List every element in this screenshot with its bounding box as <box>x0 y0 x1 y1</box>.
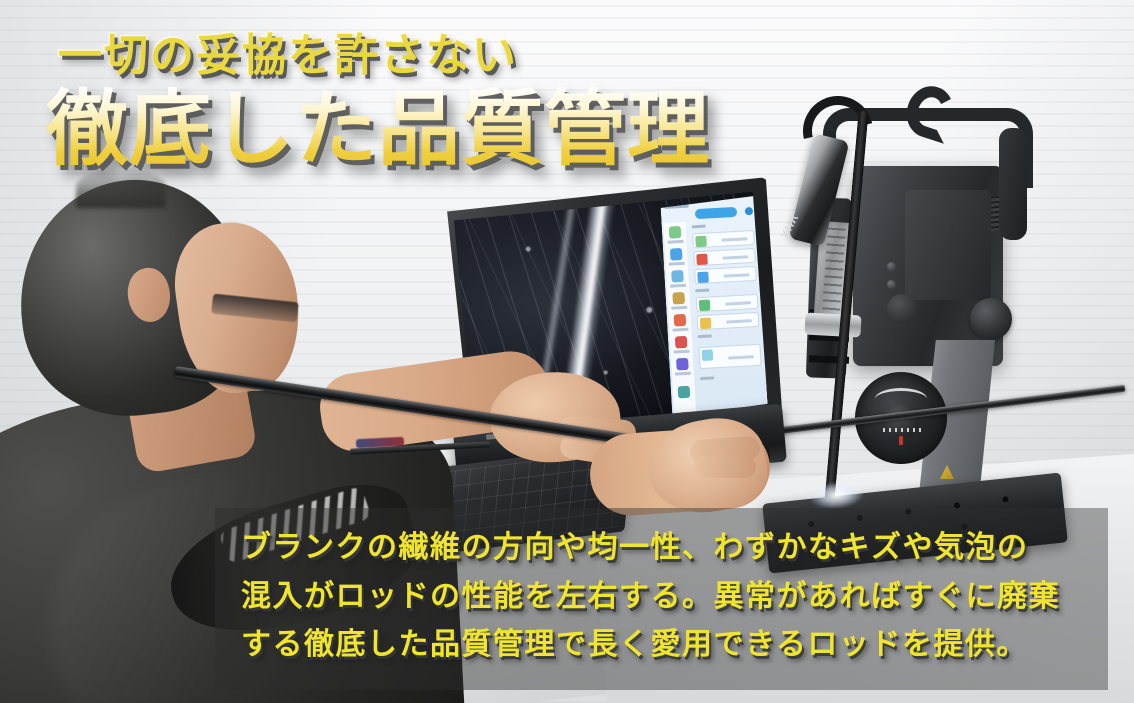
focus-knob-coarse <box>970 298 1012 340</box>
banner-image: VHX <box>0 0 1134 703</box>
row-text <box>728 355 754 359</box>
sidebar-label-2 <box>669 262 685 266</box>
row-text <box>726 319 752 323</box>
list-item[interactable] <box>697 312 760 330</box>
sidebar-label-4 <box>671 306 687 310</box>
inspection-software-panel[interactable] <box>660 196 769 429</box>
digital-microscope: VHX <box>795 90 1095 490</box>
list-item[interactable] <box>696 294 759 312</box>
surface-speck <box>603 370 607 374</box>
sidebar-label-7 <box>675 372 691 376</box>
caption-line-3: する徹底した品質管理で長く愛用できるロッドを提供。 <box>241 621 1082 670</box>
finger <box>694 456 756 478</box>
sidebar-icon-6[interactable] <box>675 336 688 349</box>
microscope-grip <box>999 128 1027 240</box>
caption-line-1: ブランクの繊維の方向や均一性、わずかなキズや気泡の <box>241 524 1082 573</box>
headline-subtitle: 一切の妥協を許さない <box>58 34 518 78</box>
row-icon <box>702 349 714 361</box>
row-text <box>721 237 747 241</box>
caption-panel: ブランクの繊維の方向や均一性、わずかなキズや気泡の 混入がロッドの性能を左右する… <box>215 508 1108 690</box>
row-icon <box>700 317 712 329</box>
software-active-tab[interactable] <box>695 207 737 219</box>
sidebar-label-1 <box>667 240 683 244</box>
stage-light-glow <box>810 479 864 510</box>
dial-scale <box>883 428 921 432</box>
panel-section-label <box>692 225 706 229</box>
sidebar-icon-4[interactable] <box>672 292 685 305</box>
list-item[interactable] <box>692 230 755 248</box>
row-icon <box>695 236 707 248</box>
sidebar-icon-1[interactable] <box>669 226 682 239</box>
sidebar-icon-3[interactable] <box>671 270 684 283</box>
row-text <box>722 255 748 259</box>
list-item[interactable] <box>694 266 757 284</box>
headline-title: 徹底した品質管理 <box>46 86 710 175</box>
panel-section-label <box>698 334 712 338</box>
sidebar-label-5 <box>672 328 688 332</box>
software-status-indicator <box>745 207 753 215</box>
screw <box>887 280 896 289</box>
sidebar-label-6 <box>674 350 690 354</box>
sidebar-label-3 <box>670 284 686 288</box>
row-icon <box>699 300 711 312</box>
lens-ring <box>804 313 861 338</box>
sidebar-icon-8[interactable] <box>678 386 691 399</box>
caption-line-2: 混入がロッドの性能を左右する。異常があればすぐに廃棄 <box>241 573 1082 622</box>
panel-section-label <box>695 289 709 293</box>
row-icon <box>697 272 709 284</box>
microscope-control-panel <box>905 190 991 300</box>
focus-knob-fine <box>887 294 917 324</box>
sidebar-icon-7[interactable] <box>676 358 689 371</box>
panel-section-label <box>700 376 714 380</box>
headline-block: 一切の妥協を許さない 徹底した品質管理 <box>0 0 720 200</box>
screw <box>887 262 896 271</box>
list-item[interactable] <box>698 344 761 369</box>
surface-speck <box>646 306 652 312</box>
sidebar-icon-5[interactable] <box>674 314 687 327</box>
row-text <box>725 301 751 305</box>
row-icon <box>696 254 708 266</box>
row-text <box>723 273 749 277</box>
dial-index-mark <box>899 436 903 445</box>
sidebar-icon-2[interactable] <box>670 248 683 261</box>
list-item[interactable] <box>693 248 756 266</box>
